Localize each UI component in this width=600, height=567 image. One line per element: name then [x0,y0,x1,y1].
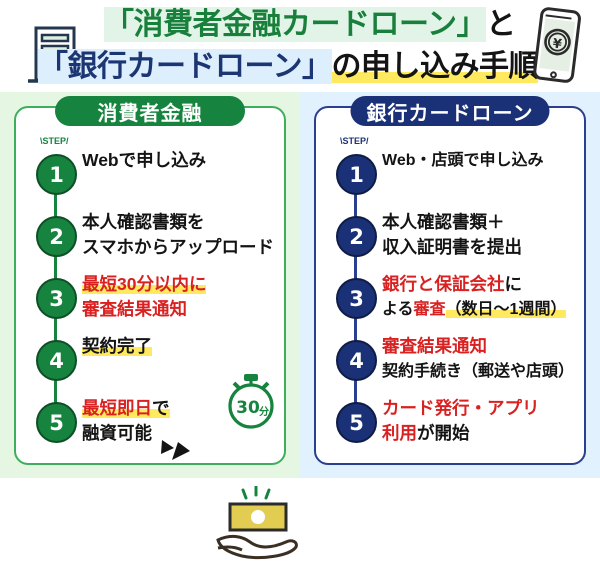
title-line-1-tail: と [486,8,516,41]
step-segment: Webで申し込み [82,150,206,170]
smartphone-yen-icon: ¥ [524,4,590,88]
panel-title-consumer-finance: 消費者金融 [55,96,245,126]
step-segment: （数日〜1週間） [446,301,567,318]
step-number-badge: 2 [36,216,77,257]
title-line-1-highlight: 「消費者金融カードローン」 [104,7,486,42]
stopwatch-value: 30 [236,398,260,418]
header: 「消費者金融カードローン」と 「銀行カードローン」の申し込み手順 ¥ [0,0,600,92]
step-marker-label-left: \STEP/ [40,136,69,146]
step-line: カード発行・アプリ [382,396,588,421]
panel-bank-card-loan: 銀行カードローン \STEP/ 1 Web・店頭で申し込み 2 本人確認書類＋ … [300,92,600,478]
step-line: 審査結果通知 [82,297,288,322]
step-number-badge: 4 [36,340,77,381]
step-segment: 収入証明書を提出 [382,237,522,257]
step-segment: 本人確認書類を [82,212,205,232]
step-segment: が開始 [417,423,470,443]
step-item[interactable]: 1 Webで申し込み [16,148,288,210]
step-text: カード発行・アプリ 利用が開始 [382,396,588,446]
step-number-badge: 2 [336,216,377,257]
step-segment: カード発行・アプリ [382,398,540,418]
step-segment: 契約手続き（郵送や店頭） [382,363,574,380]
step-number-badge: 4 [336,340,377,381]
step-segment: 本人確認書類＋ [382,212,505,232]
step-line: 審査結果通知 [382,334,588,359]
step-list-bank-card-loan: 1 Web・店頭で申し込み 2 本人確認書類＋ 収入証明書を提出 3 銀行と保 [316,148,588,458]
step-number-badge: 5 [336,402,377,443]
step-segment: スマホからアップロード [82,237,274,257]
card-bank-card-loan: 銀行カードローン \STEP/ 1 Web・店頭で申し込み 2 本人確認書類＋ … [314,106,586,465]
step-line: 契約完了 [82,334,288,359]
step-number-badge: 1 [36,154,77,195]
step-line: 利用が開始 [382,421,588,446]
step-number-badge: 5 [36,402,77,443]
step-line: スマホからアップロード [82,235,288,260]
step-line: 最短30分以内に [82,272,288,297]
cash-in-hand-icon [212,486,308,562]
step-text: 本人確認書類＋ 収入証明書を提出 [382,210,588,260]
stopwatch-icon: 30 分 [212,366,290,432]
step-item[interactable]: 2 本人確認書類を スマホからアップロード [16,210,288,272]
step-text: 契約完了 [82,334,288,359]
panel-title-bank-card-loan: 銀行カードローン [351,96,550,126]
step-line: Web・店頭で申し込み [382,148,588,173]
step-marker-label-right: \STEP/ [340,136,369,146]
step-segment: 利用 [382,423,417,443]
title-line-1: 「消費者金融カードローン」と [104,4,524,46]
step-segment: 審査結果通知 [82,299,187,319]
step-line: よる審査（数日〜1週間） [382,297,588,322]
stopwatch-unit: 分 [259,405,269,418]
title-line-2: 「銀行カードローン」の申し込み手順 [38,46,524,88]
step-item[interactable]: 3 銀行と保証会社に よる審査（数日〜1週間） [316,272,588,334]
step-item[interactable]: 2 本人確認書類＋ 収入証明書を提出 [316,210,588,272]
step-segment: 審査結果通知 [382,336,487,356]
step-text: Web・店頭で申し込み [382,148,588,173]
page-title: 「消費者金融カードローン」と 「銀行カードローン」の申し込み手順 [104,4,524,88]
step-line: 本人確認書類を [82,210,288,235]
step-line: 収入証明書を提出 [382,235,588,260]
title-line-2-highlight: 「銀行カードローン」 [38,49,332,84]
step-text: 審査結果通知 契約手続き（郵送や店頭） [382,334,588,384]
step-item[interactable]: 3 最短30分以内に 審査結果通知 [16,272,288,334]
step-segment: 銀行と保証会社 [382,274,505,294]
step-line: Webで申し込み [82,148,288,173]
infographic-canvas: 「消費者金融カードローン」と 「銀行カードローン」の申し込み手順 ¥ 消費者金融… [0,0,600,478]
step-line: 契約手続き（郵送や店頭） [382,359,588,384]
step-text: 本人確認書類を スマホからアップロード [82,210,288,260]
panel-consumer-finance: 消費者金融 \STEP/ 1 Webで申し込み 2 本人確認書類を スマホからア… [0,92,300,478]
step-text: 最短30分以内に 審査結果通知 [82,272,288,322]
step-segment: 審査 [414,301,446,318]
step-number-badge: 3 [336,278,377,319]
step-item[interactable]: 4 審査結果通知 契約手続き（郵送や店頭） [316,334,588,396]
step-item[interactable]: 5 カード発行・アプリ 利用が開始 [316,396,588,458]
step-segment: 最短30分以内に [82,274,206,294]
step-segment: Web・店頭で申し込み [382,152,544,169]
title-line-2-tail: の申し込み手順 [332,50,539,83]
card-consumer-finance: 消費者金融 \STEP/ 1 Webで申し込み 2 本人確認書類を スマホからア… [14,106,286,465]
step-number-badge: 3 [36,278,77,319]
step-text: 銀行と保証会社に よる審査（数日〜1週間） [382,272,588,322]
step-item[interactable]: 1 Web・店頭で申し込み [316,148,588,210]
step-segment: 融資可能 [82,423,152,443]
step-line: 本人確認書類＋ [382,210,588,235]
step-segment: よる [382,301,414,318]
step-text: Webで申し込み [82,148,288,173]
step-segment: 契約完了 [82,336,152,356]
step-line: 銀行と保証会社に [382,272,588,297]
svg-text:¥: ¥ [552,37,563,53]
step-segment: で [152,398,170,418]
check-flash-icon [158,438,200,472]
step-segment: に [505,274,523,294]
step-number-badge: 1 [336,154,377,195]
step-segment: 最短即日 [82,398,152,418]
